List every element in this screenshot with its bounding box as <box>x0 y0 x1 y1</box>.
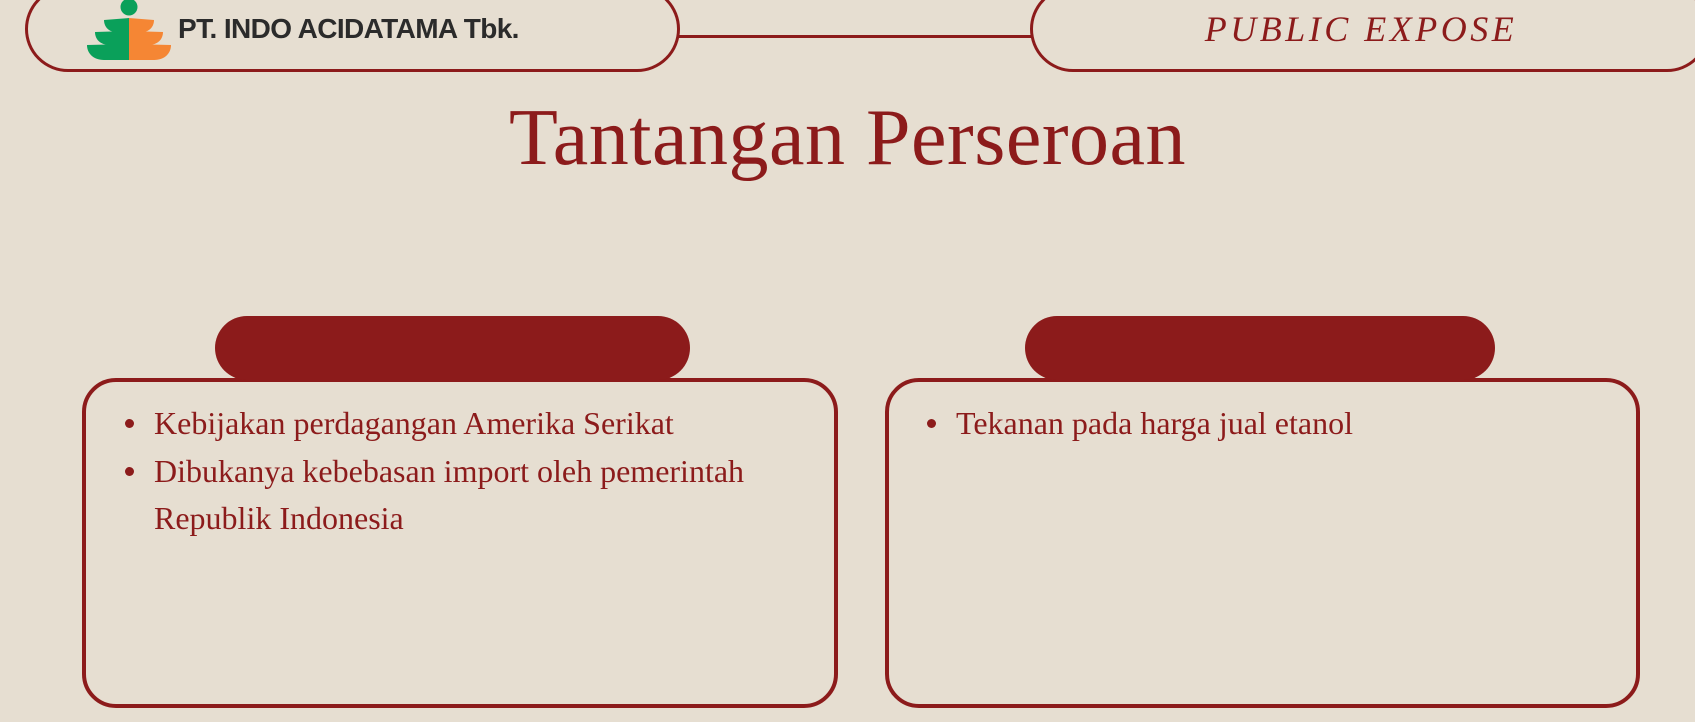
challenge-card-right-pill <box>1025 316 1495 380</box>
content-cards: Kebijakan perdagangan Amerika Serikat Di… <box>0 0 1695 722</box>
challenge-card-left-pill <box>215 316 690 380</box>
challenge-card-left-body: Kebijakan perdagangan Amerika Serikat Di… <box>118 400 818 543</box>
challenge-list-right: Tekanan pada harga jual etanol <box>920 400 1620 446</box>
challenge-card-right-body: Tekanan pada harga jual etanol <box>920 400 1620 448</box>
list-item: Dibukanya kebebasan import oleh pemerint… <box>118 448 818 541</box>
list-item: Tekanan pada harga jual etanol <box>920 400 1620 446</box>
challenge-list-left: Kebijakan perdagangan Amerika Serikat Di… <box>118 400 818 541</box>
list-item: Kebijakan perdagangan Amerika Serikat <box>118 400 818 446</box>
